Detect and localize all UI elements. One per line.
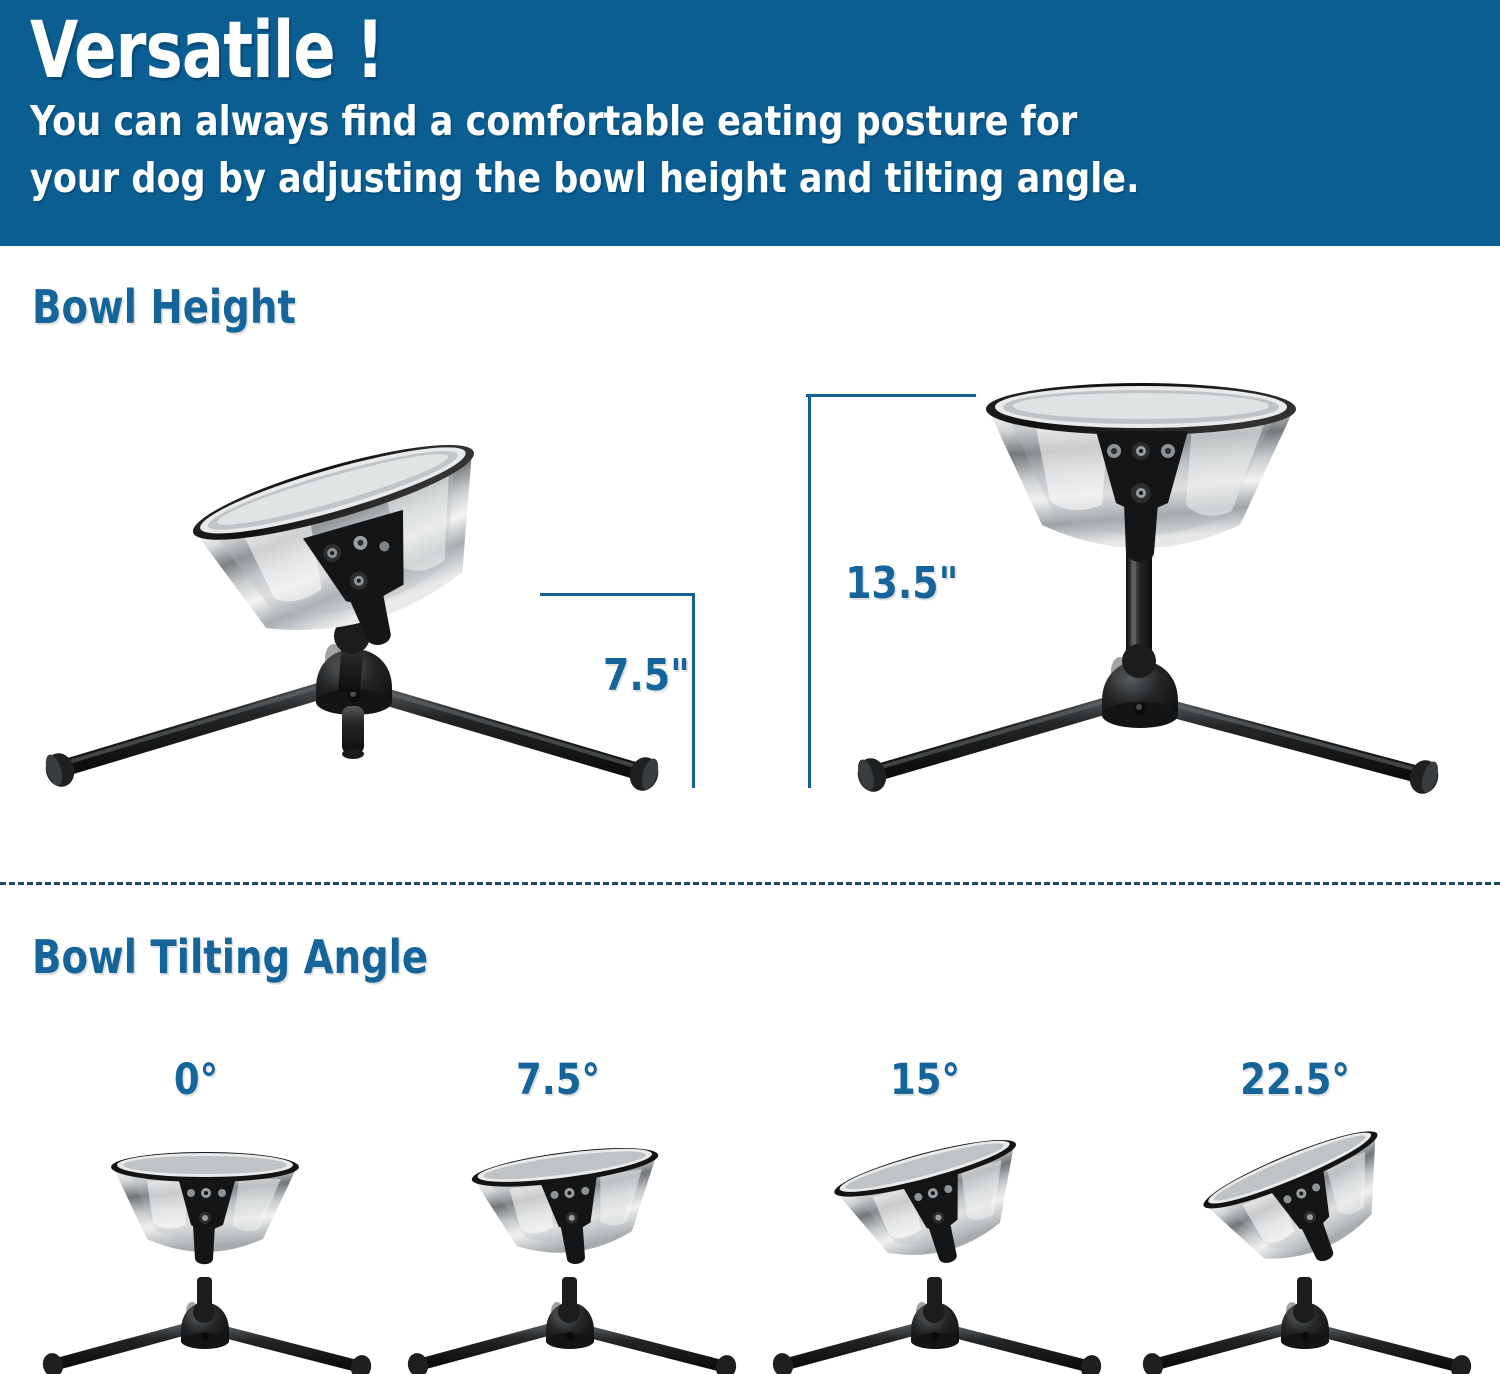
dimension-line-7-5 xyxy=(692,593,695,788)
support-post xyxy=(558,1277,580,1323)
dimension-label-7-5: 7.5" xyxy=(603,650,690,701)
infographic-page: Versatile ! You can always find a comfor… xyxy=(0,0,1500,1374)
section-heading-bowl-height: Bowl Height xyxy=(32,280,296,334)
foot-cap-right xyxy=(1406,757,1442,797)
support-post xyxy=(923,1277,945,1323)
banner-subtitle-line-1: You can always find a comfortable eating… xyxy=(30,94,1266,149)
support-post xyxy=(1293,1277,1315,1323)
bowl-assembly xyxy=(1198,1120,1415,1296)
product-stand-tilt-15 xyxy=(765,1135,1105,1374)
bowl-assembly xyxy=(830,1129,1041,1286)
section-divider xyxy=(0,882,1500,885)
angle-label-15: 15° xyxy=(890,1055,960,1105)
angle-label-22-5: 22.5° xyxy=(1240,1055,1350,1105)
angle-label-0: 0° xyxy=(174,1055,218,1105)
banner-subtitle-line-2: your dog by adjusting the bowl height an… xyxy=(30,151,1266,206)
foot-cap-left xyxy=(854,755,890,795)
bowl-assembly xyxy=(986,383,1296,562)
product-stand-tilt-22-5 xyxy=(1135,1135,1475,1374)
foot-cap-right xyxy=(626,754,663,795)
section-heading-bowl-tilting-angle: Bowl Tilting Angle xyxy=(32,930,428,984)
product-stand-low-height xyxy=(20,430,580,810)
dimension-label-13-5: 13.5" xyxy=(845,558,958,609)
bowl-assembly xyxy=(111,1152,299,1264)
header-banner: Versatile ! You can always find a comfor… xyxy=(0,0,1500,246)
angle-label-7-5: 7.5° xyxy=(516,1055,600,1105)
banner-title: Versatile ! xyxy=(30,14,1187,88)
product-stand-tilt-7-5 xyxy=(400,1135,740,1374)
dimension-leader-13-5 xyxy=(806,394,976,397)
product-stand-tilt-0 xyxy=(35,1135,375,1374)
dimension-leader-7-5 xyxy=(540,593,695,596)
bowl-assembly xyxy=(470,1140,671,1276)
dimension-line-13-5 xyxy=(808,394,811,788)
foot-cap-left xyxy=(42,750,79,791)
support-post xyxy=(193,1277,215,1323)
